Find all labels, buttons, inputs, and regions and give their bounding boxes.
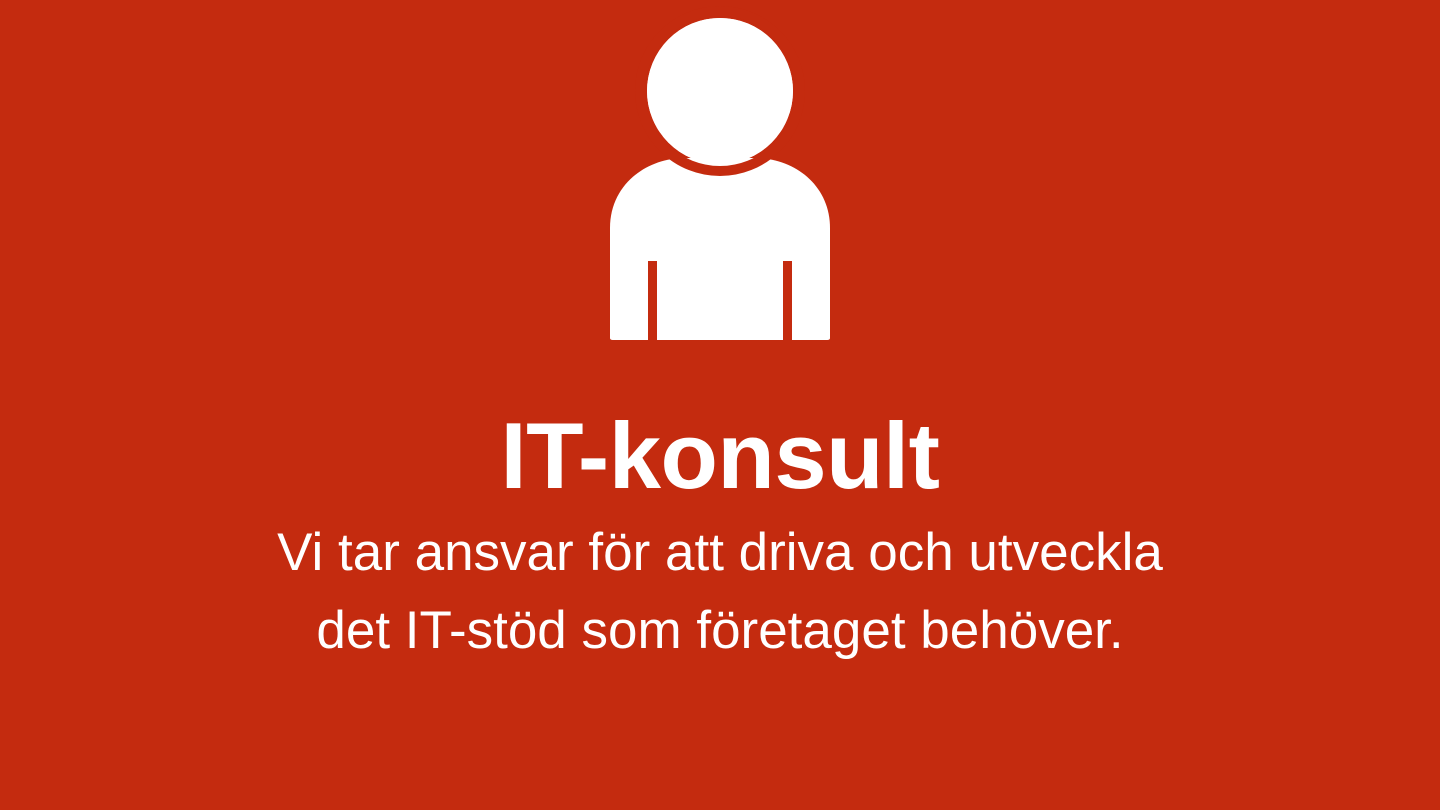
slide-text-block: IT-konsult Vi tar ansvar för att driva o… [0,404,1440,670]
subtitle-line-1: Vi tar ansvar för att driva och utveckla [0,514,1440,592]
slide-subtitle: Vi tar ansvar för att driva och utveckla… [0,508,1440,670]
slide-canvas: IT-konsult Vi tar ansvar för att driva o… [0,0,1440,810]
person-icon [570,0,870,400]
person-icon-container [0,0,1440,400]
subtitle-line-2: det IT-stöd som företaget behöver. [0,592,1440,670]
page-title: IT-konsult [0,404,1440,508]
